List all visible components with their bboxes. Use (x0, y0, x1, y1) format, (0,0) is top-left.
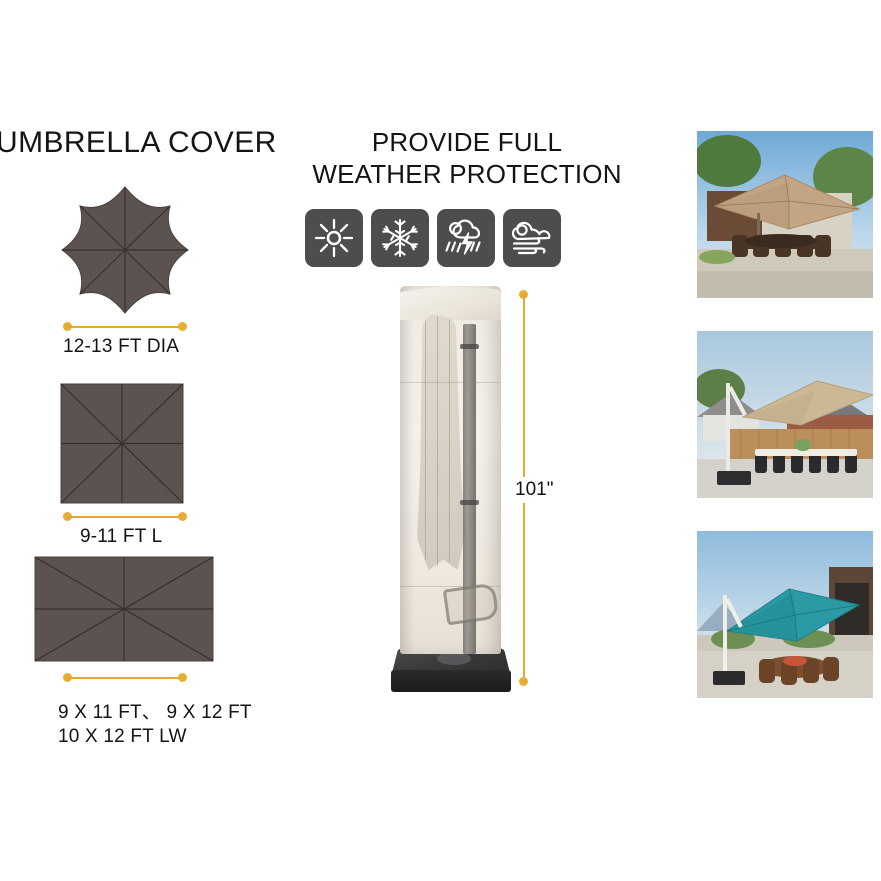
wind-icon-badge (503, 209, 561, 267)
dimension-bar (67, 677, 183, 679)
dimension-line-square (63, 512, 187, 522)
lifestyle-photo-teal-umbrella (697, 531, 873, 698)
center-heading-line2: WEATHER PROTECTION (292, 158, 642, 190)
dimension-dot-right (178, 673, 187, 682)
pole-collar (460, 500, 479, 505)
infographic-page: UMBRELLA COVER 12-13 FT DIA (0, 0, 881, 881)
dimension-dot-right (178, 512, 187, 521)
umbrella-rib (425, 320, 426, 560)
umbrella-rib (449, 320, 450, 562)
umbrella-rib (437, 316, 438, 566)
cover-top-fold (400, 286, 501, 320)
rectangle-dimension-label-line1: 9 X 11 FT、 9 X 12 FT (58, 701, 252, 725)
pole-collar (460, 344, 479, 349)
rain-lightning-icon (444, 217, 488, 259)
center-heading: PROVIDE FULL WEATHER PROTECTION (292, 126, 642, 190)
rectangle-dimension-label: 9 X 11 FT、 9 X 12 FT 10 X 12 FT LW (58, 701, 252, 749)
octagon-dimension-label: 12-13 FT DIA (63, 336, 179, 358)
lifestyle-photo-beige-umbrella (697, 331, 873, 498)
octagon-canopy-graphic (58, 183, 192, 317)
sun-icon-badge (305, 209, 363, 267)
square-canopy-graphic (60, 383, 184, 504)
dimension-bar (67, 326, 183, 328)
center-heading-line1: PROVIDE FULL (292, 126, 642, 158)
weather-icon-row (305, 209, 561, 267)
dimension-dot-right (178, 322, 187, 331)
square-dimension-label: 9-11 FT L (80, 526, 162, 548)
rectangle-dimension-label-line2: 10 X 12 FT LW (58, 725, 252, 749)
cover-seam (400, 586, 501, 587)
dimension-dot-bottom (519, 677, 528, 686)
lifestyle-photo-tan-umbrella (697, 131, 873, 298)
dimension-line-rectangle (63, 673, 187, 683)
sun-icon (314, 218, 354, 258)
dimension-bar (67, 516, 183, 518)
product-photo (389, 286, 513, 686)
rain-lightning-icon-badge (437, 209, 495, 267)
snowflake-icon (379, 217, 421, 259)
snowflake-icon-badge (371, 209, 429, 267)
dimension-line-octagon (63, 322, 187, 332)
height-dimension-label: 101" (513, 477, 555, 503)
wind-icon (510, 217, 554, 259)
rectangle-canopy-graphic (34, 556, 214, 662)
base-bottom-plate (391, 670, 511, 692)
page-title: UMBRELLA COVER (0, 126, 277, 160)
cover-seam (400, 382, 501, 383)
